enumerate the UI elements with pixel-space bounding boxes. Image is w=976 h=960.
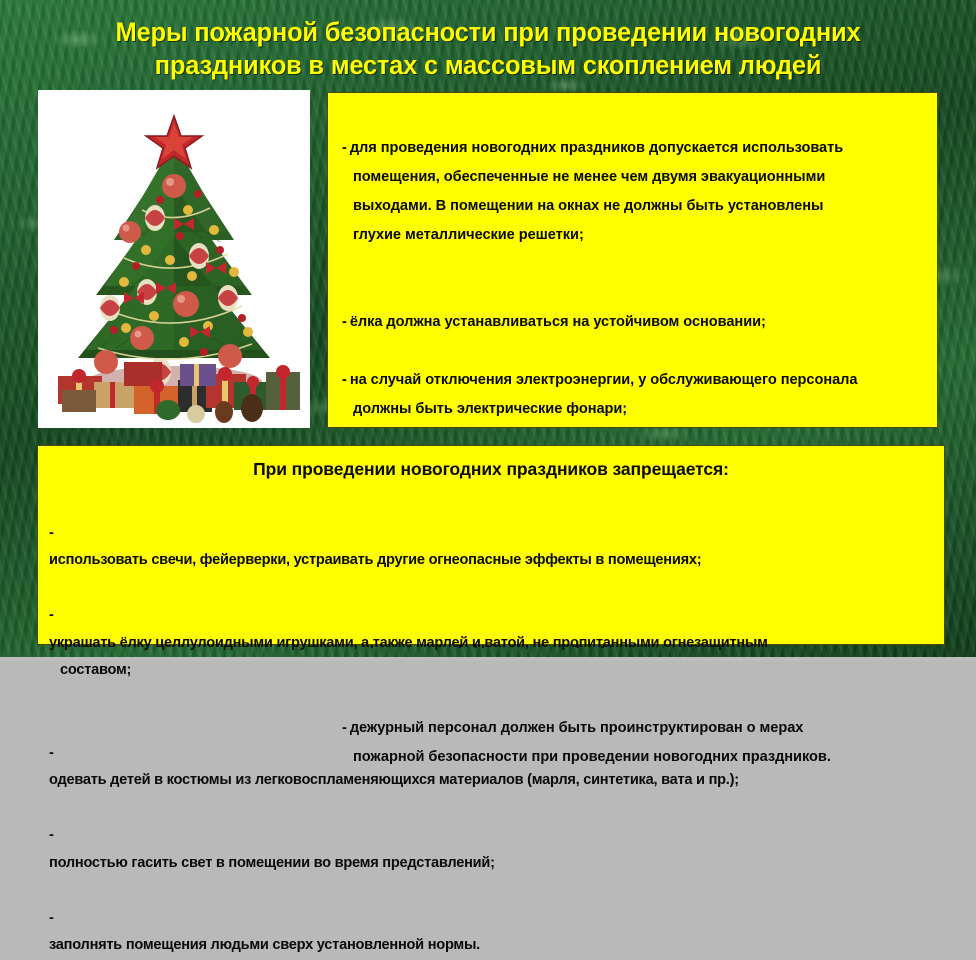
page-title: Меры пожарной безопасности при проведени…	[41, 16, 936, 82]
christmas-tree-illustration	[38, 90, 310, 428]
prohibition-text-rest: составом;	[49, 657, 930, 685]
rule-item: -ёлка должна устанавливаться на устойчив…	[342, 279, 924, 337]
prohibition-item: - украшать ёлку целлулоидными игрушками,…	[49, 575, 930, 713]
prohibition-text-first: заполнять помещения людьми сверх установ…	[49, 937, 480, 953]
list-dash: -	[49, 607, 54, 623]
prohibition-item: - заполнять помещения людьми сверх устан…	[49, 877, 930, 960]
prohibition-text-first: полностью гасить свет в помещении во вре…	[49, 855, 495, 871]
rule-text-rest: помещения, обеспеченные не менее чем дву…	[342, 163, 924, 250]
christmas-tree-image	[38, 90, 310, 428]
prohibition-text-first: использовать свечи, фейерверки, устраива…	[49, 552, 701, 568]
prohibitions-panel: При проведении новогодних праздников зап…	[37, 445, 945, 645]
prohibition-text-first: украшать ёлку целлулоидными игрушками, а…	[49, 635, 768, 651]
prohibition-item: - полностью гасить свет в помещении во в…	[49, 795, 930, 878]
list-dash: -	[342, 372, 347, 388]
list-dash: -	[49, 745, 54, 761]
list-dash: -	[49, 525, 54, 541]
list-dash: -	[342, 140, 347, 156]
rule-text-first: ёлка должна устанавливаться на устойчиво…	[350, 314, 766, 330]
prohibition-item: - использовать свечи, фейерверки, устраи…	[49, 492, 930, 575]
fire-safety-rules-panel: -для проведения новогодних праздников до…	[327, 92, 938, 428]
list-dash: -	[49, 910, 54, 926]
prohibition-item: - одевать детей в костюмы из легковоспла…	[49, 712, 930, 795]
list-dash: -	[49, 827, 54, 843]
bottom-edge-strip	[0, 657, 976, 661]
rule-item: -для проведения новогодних праздников до…	[342, 105, 924, 279]
rule-text-first: для проведения новогодних праздников доп…	[350, 140, 843, 156]
prohibitions-heading: При проведении новогодних праздников зап…	[38, 459, 944, 480]
rule-text-rest: должны быть электрические фонари;	[342, 395, 924, 424]
prohibition-text-first: одевать детей в костюмы из легковоспламе…	[49, 772, 739, 788]
list-dash: -	[342, 314, 347, 330]
prohibitions-list: - использовать свечи, фейерверки, устраи…	[38, 492, 944, 960]
fire-safety-poster: Меры пожарной безопасности при проведени…	[0, 0, 976, 657]
rule-text-first: на случай отключения электроэнергии, у о…	[350, 372, 858, 388]
rule-item: -на случай отключения электроэнергии, у …	[342, 337, 924, 453]
